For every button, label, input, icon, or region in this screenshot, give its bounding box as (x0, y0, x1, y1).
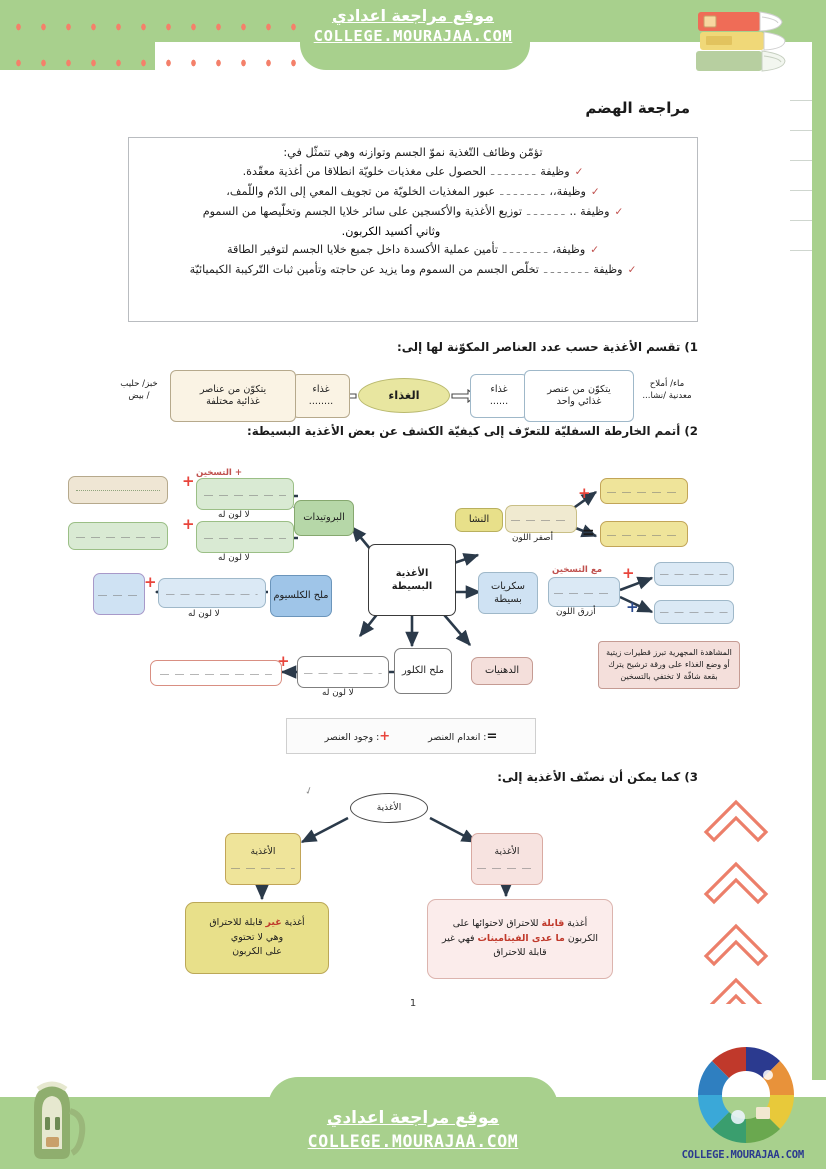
q3-right-g: قابلة للاحتراق (493, 947, 546, 958)
q3-right-f: فهي غير (442, 933, 477, 944)
q3-left-d: وهي لا تحتوي (231, 932, 283, 943)
q3-arrows (0, 0, 826, 1169)
q3-right-d: الكربون (565, 933, 598, 944)
q3-left-e: على الكربون (232, 946, 282, 957)
q3-right-highlight-2: ما عدى الفيتامينات (478, 933, 565, 944)
blank-answer-line (231, 864, 295, 872)
footer-brand: موقع مراجعة اعدادي COLLEGE.MOURAJAA.COM (0, 1107, 826, 1153)
q3-right-description: أغذية قابلة للاحتراق لاحتوائها على الكرب… (427, 899, 613, 979)
brand-name-ar-footer: موقع مراجعة اعدادي (0, 1107, 826, 1130)
q3-right-node[interactable]: الأغذية (471, 833, 543, 885)
blank-answer-line (477, 864, 537, 872)
q3-right-a: أغذية (564, 918, 587, 929)
stacked-books-icon (684, 6, 792, 84)
q3-left-description: أغذية غير قابلة للاحتراق وهي لا تحتوي عل… (185, 902, 329, 974)
q3-left-highlight: غير (266, 917, 282, 928)
q3-right-c: للاحتراق لاحتوائها على (453, 918, 542, 929)
q3-left-node[interactable]: الأغذية (225, 833, 301, 885)
document-content: مراجعة الهضم 1 تؤمّن وظائف التّغذية نموّ… (0, 0, 826, 1169)
q3-right-highlight-1: قابلة (542, 918, 565, 929)
q3-right-node-label: الأغذية (495, 846, 520, 858)
q3-left-a: أغذية (282, 917, 305, 928)
q3-root-node: الأغذية (350, 793, 428, 823)
q3-left-node-label: الأغذية (251, 846, 276, 858)
worksheet-page: موقع مراجعة اعدادي COLLEGE.MOURAJAA.COM … (0, 0, 826, 1169)
backpack-icon (12, 1077, 120, 1163)
q3-left-c: قابلة للاحتراق (209, 917, 265, 928)
corner-watermark-url: COLLEGE.MOURAJAA.COM (682, 1149, 804, 1161)
